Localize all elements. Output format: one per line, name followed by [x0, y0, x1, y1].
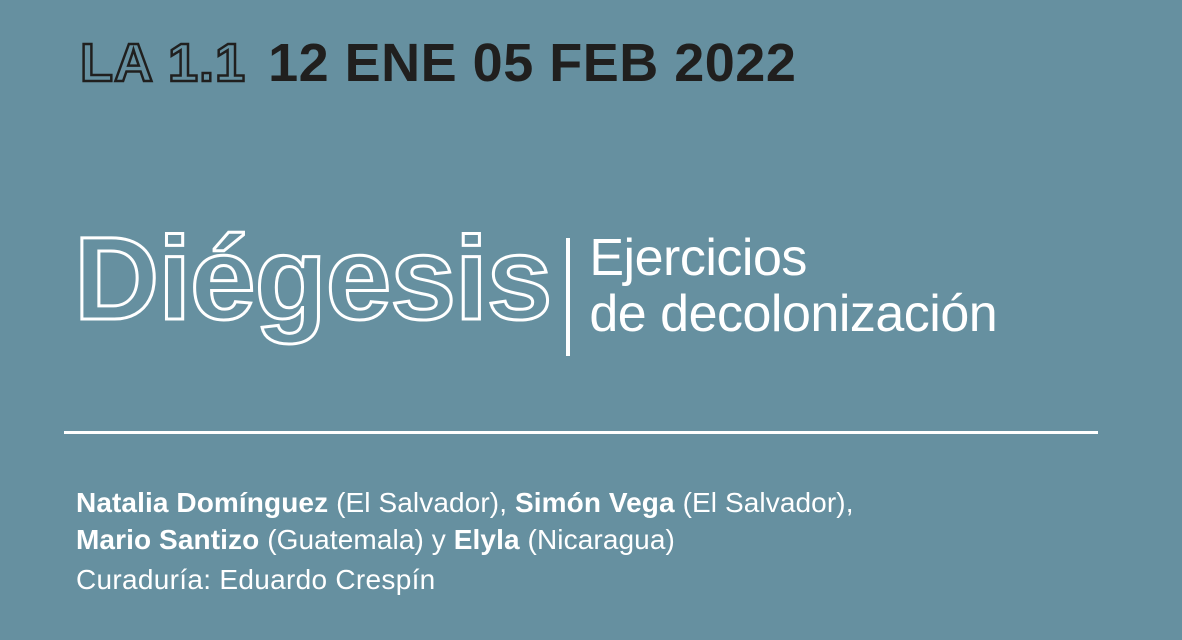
edition-number: LA 1.1 — [80, 36, 246, 90]
credit-line-1: Natalia Domínguez (El Salvador), Simón V… — [76, 485, 854, 522]
exhibition-date-range: 12 ENE 05 FEB 2022 — [268, 36, 796, 90]
credit-line-2: Mario Santizo (Guatemala) y Elyla (Nicar… — [76, 522, 854, 559]
poster-canvas: LA 1.1 12 ENE 05 FEB 2022 Diégesis Ejerc… — [0, 0, 1182, 640]
exhibition-subtitle: Ejercicios de decolonización — [589, 230, 997, 342]
header-row: LA 1.1 12 ENE 05 FEB 2022 — [80, 36, 796, 90]
horizontal-divider-rule — [64, 431, 1098, 434]
artist-country-natalia-dominguez: (El Salvador), — [328, 487, 515, 518]
title-block: Diégesis Ejercicios de decolonización — [74, 216, 997, 356]
artist-country-simon-vega: (El Salvador), — [675, 487, 854, 518]
artist-name-simon-vega: Simón Vega — [515, 487, 675, 518]
subtitle-line-2: de decolonización — [589, 286, 997, 342]
artist-country-mario-santizo: (Guatemala) y — [259, 524, 453, 555]
title-divider — [566, 238, 570, 356]
artist-country-elyla: (Nicaragua) — [520, 524, 675, 555]
exhibition-title: Diégesis — [74, 216, 551, 343]
artist-name-elyla: Elyla — [454, 524, 520, 555]
subtitle-line-1: Ejercicios — [589, 230, 997, 286]
artist-name-mario-santizo: Mario Santizo — [76, 524, 259, 555]
credits-block: Natalia Domínguez (El Salvador), Simón V… — [76, 485, 854, 599]
artist-name-natalia-dominguez: Natalia Domínguez — [76, 487, 328, 518]
curator-credit: Curaduría: Eduardo Crespín — [76, 562, 854, 599]
